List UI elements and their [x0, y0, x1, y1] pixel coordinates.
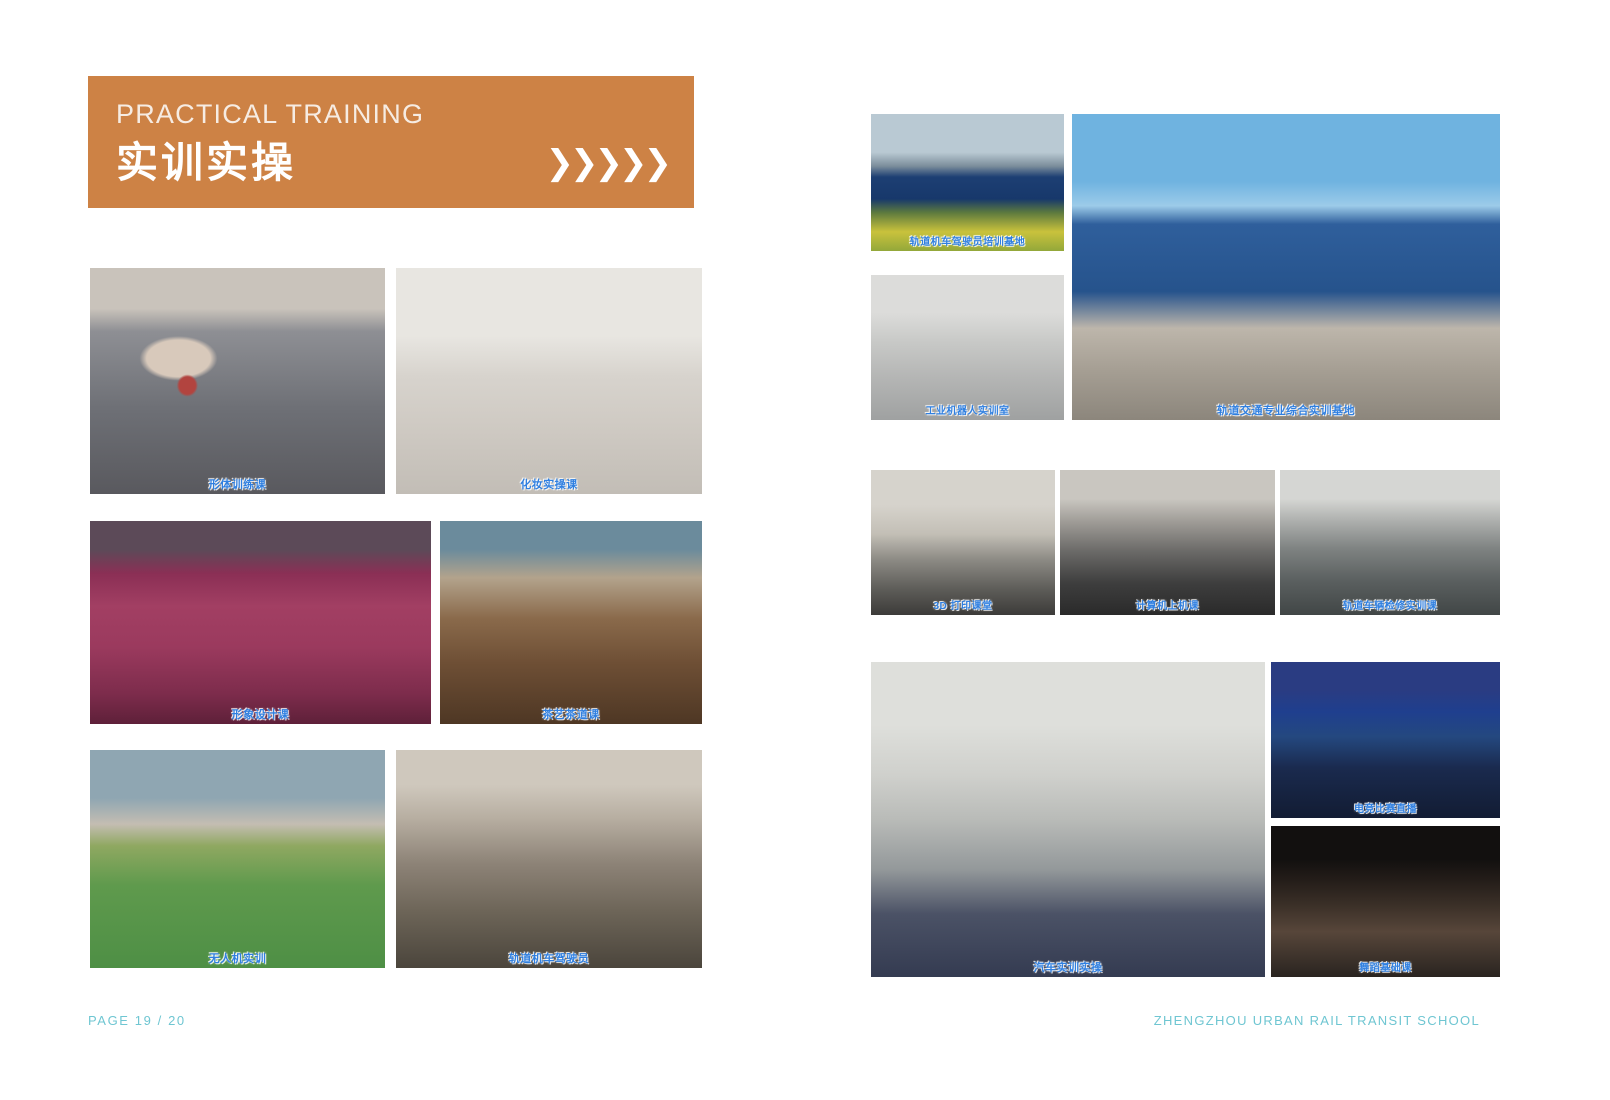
- photo-drone-training: 无人机实训: [90, 750, 385, 968]
- left-page: PRACTICAL TRAINING 实训实操 ❯❯❯❯❯ 形体训练课 化妆实操…: [0, 0, 805, 1100]
- caption-esports-livestream: 电竞比赛直播: [1271, 804, 1500, 815]
- caption-computer-lab-class: 计算机上机课: [1060, 601, 1275, 612]
- brochure-spread: PRACTICAL TRAINING 实训实操 ❯❯❯❯❯ 形体训练课 化妆实操…: [0, 0, 1610, 1100]
- caption-auto-training: 汽车实训实操: [871, 962, 1265, 974]
- photo-esports-livestream: 电竞比赛直播: [1271, 662, 1500, 818]
- page-number-footer: PAGE 19 / 20: [88, 1013, 186, 1028]
- photo-rail-transit-base: 轨道交通专业综合实训基地: [1072, 114, 1500, 420]
- school-name-footer: ZHENGZHOU URBAN RAIL TRANSIT SCHOOL: [1154, 1013, 1480, 1028]
- photo-auto-training: 汽车实训实操: [871, 662, 1265, 977]
- photo-computer-lab-class: 计算机上机课: [1060, 470, 1275, 615]
- photo-tea-ceremony: 茶艺茶道课: [440, 521, 702, 724]
- photo-industrial-robot-lab: 工业机器人实训室: [871, 275, 1064, 420]
- section-header-banner: PRACTICAL TRAINING 实训实操 ❯❯❯❯❯: [88, 76, 694, 208]
- section-title-english: PRACTICAL TRAINING: [116, 98, 666, 132]
- caption-tea-ceremony: 茶艺茶道课: [440, 709, 702, 721]
- photo-rail-vehicle-maint: 轨道车辆检修实训课: [1280, 470, 1500, 615]
- caption-industrial-robot-lab: 工业机器人实训室: [871, 406, 1064, 417]
- chevron-right-icon: ❯❯❯❯❯: [546, 146, 668, 180]
- caption-rail-vehicle-maint: 轨道车辆检修实训课: [1280, 601, 1500, 612]
- caption-body-training: 形体训练课: [90, 479, 385, 491]
- caption-rail-transit-base: 轨道交通专业综合实训基地: [1072, 405, 1500, 417]
- caption-makeup-class: 化妆实操课: [396, 479, 702, 491]
- page-number-text: PAGE 19 / 20: [88, 1013, 186, 1028]
- photo-dance-basics-class: 舞蹈基础课: [1271, 826, 1500, 977]
- caption-image-design: 形象设计课: [90, 709, 431, 721]
- caption-locomotive-driver-base: 轨道机车驾驶员培训基地: [871, 237, 1064, 248]
- caption-locomotive-cab: 轨道机车驾驶员: [396, 953, 702, 965]
- right-page: 轨道机车驾驶员培训基地 工业机器人实训室 轨道交通专业综合实训基地 3D 打印课…: [805, 0, 1610, 1100]
- photo-makeup-class: 化妆实操课: [396, 268, 702, 494]
- photo-3d-printing-class: 3D 打印课堂: [871, 470, 1055, 615]
- caption-drone-training: 无人机实训: [90, 953, 385, 965]
- school-name-text: ZHENGZHOU URBAN RAIL TRANSIT SCHOOL: [1154, 1013, 1480, 1028]
- photo-image-design: 形象设计课: [90, 521, 431, 724]
- photo-locomotive-driver-base: 轨道机车驾驶员培训基地: [871, 114, 1064, 251]
- caption-dance-basics-class: 舞蹈基础课: [1271, 963, 1500, 974]
- caption-3d-printing-class: 3D 打印课堂: [871, 601, 1055, 612]
- photo-body-training: 形体训练课: [90, 268, 385, 494]
- photo-locomotive-cab: 轨道机车驾驶员: [396, 750, 702, 968]
